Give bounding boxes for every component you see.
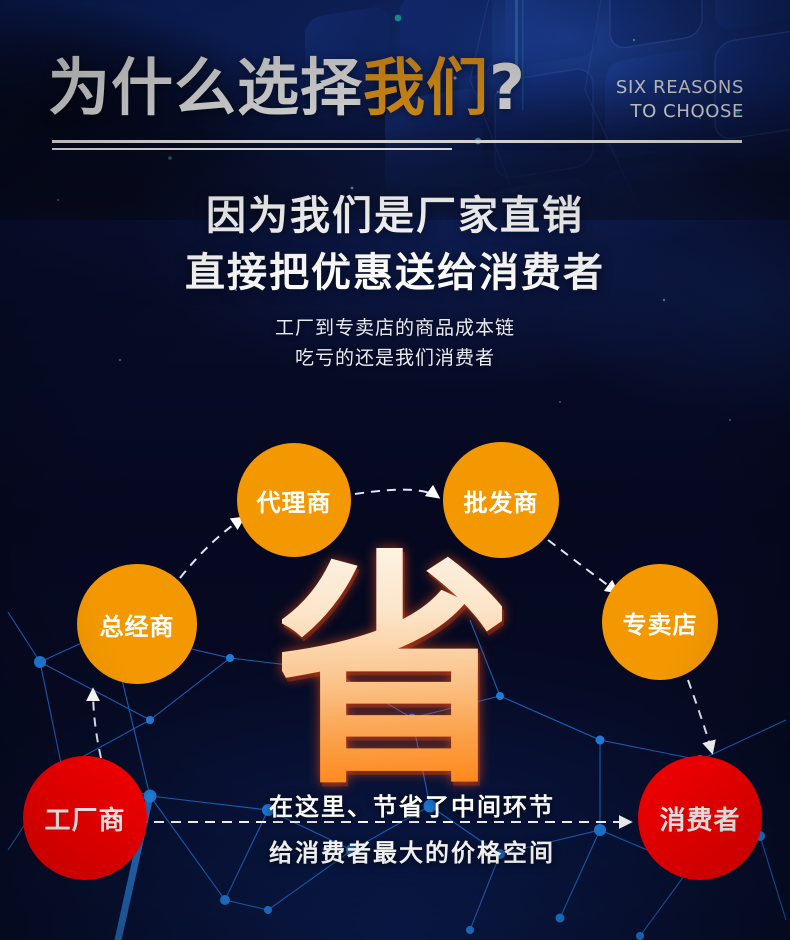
node-factory-label: 工厂商 [44, 800, 125, 837]
node-wholesaler-label: 批发商 [464, 483, 539, 518]
node-consumer[interactable]: 消费者 [638, 756, 762, 880]
node-factory[interactable]: 工厂商 [23, 756, 147, 880]
big-save-character: 省 [282, 548, 502, 798]
connector-agent-to-wholesaler [355, 490, 438, 497]
node-agent-label: 代理商 [257, 483, 332, 518]
diagram-slogan-line1: 在这里、节省了中间环节 [232, 785, 592, 831]
supply-chain-diagram: 省 总经商 代理商 批发商 专卖店 工厂商 消费者 在这里、节省了中间环节 给消… [0, 0, 790, 940]
node-consumer-label: 消费者 [659, 800, 740, 837]
connector-general-to-agent [180, 518, 243, 578]
connector-wholesaler-to-store [548, 540, 617, 592]
node-general-label: 总经商 [100, 607, 175, 642]
node-general[interactable]: 总经商 [77, 564, 197, 684]
promo-banner: 为什么选择我们? SIX REASONS TO CHOOSE 因为我们是厂家直销… [0, 0, 790, 940]
node-store-label: 专卖店 [623, 605, 698, 640]
connector-factory-to-general [93, 690, 101, 758]
node-agent[interactable]: 代理商 [237, 443, 351, 557]
diagram-slogan: 在这里、节省了中间环节 给消费者最大的价格空间 [232, 785, 592, 876]
diagram-slogan-line2: 给消费者最大的价格空间 [232, 831, 592, 877]
node-wholesaler[interactable]: 批发商 [443, 442, 559, 558]
connector-store-to-consumer [688, 680, 712, 752]
node-store[interactable]: 专卖店 [602, 564, 718, 680]
